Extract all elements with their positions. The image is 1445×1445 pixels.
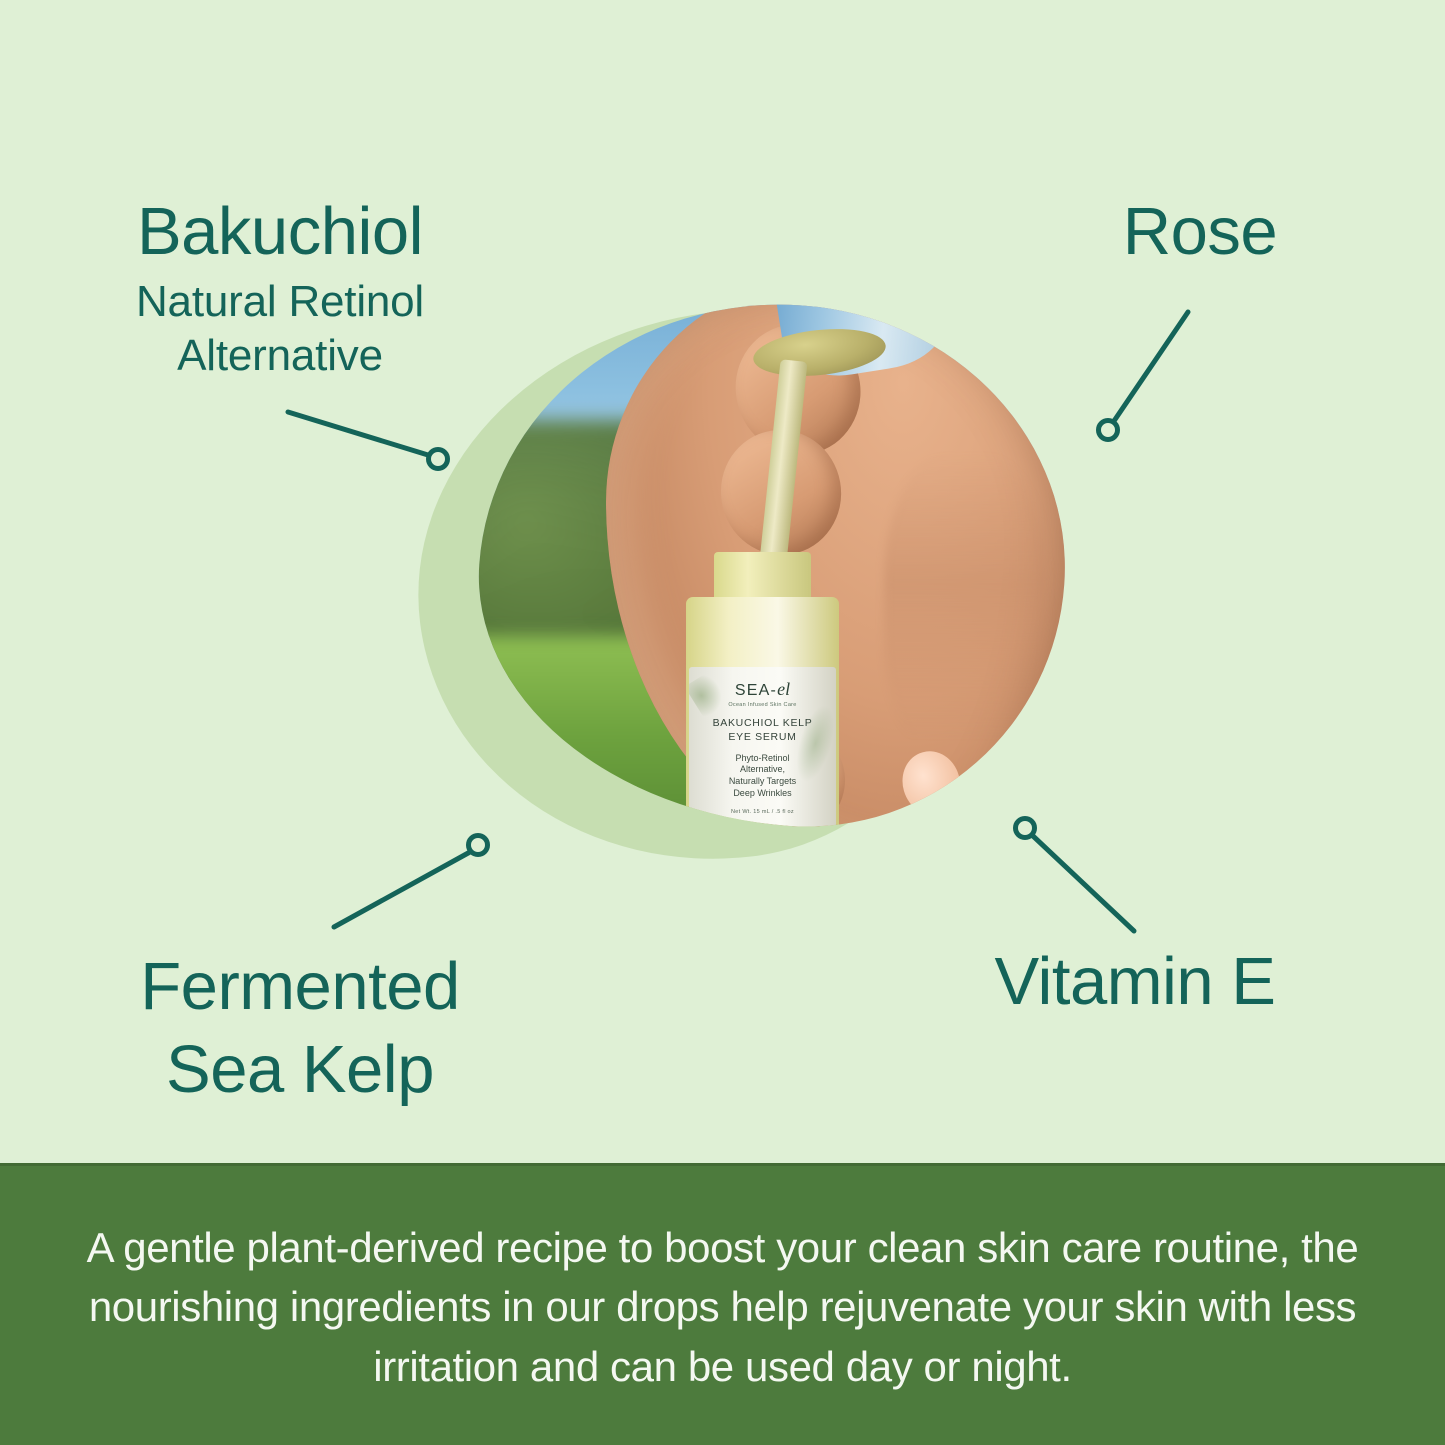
connector-line-bakuchiol <box>288 412 428 455</box>
callout-bakuchiol: Bakuchiol Natural Retinol Alternative <box>0 198 560 382</box>
callout-fermented-sea-kelp: Fermented Sea Kelp <box>20 945 580 1111</box>
bottle-label: SEA-el Ocean Infused Skin Care BAKUCHIOL… <box>689 667 836 844</box>
callout-bakuchiol-title: Bakuchiol <box>0 198 560 265</box>
infographic-canvas: SEA-el Ocean Infused Skin Care BAKUCHIOL… <box>0 0 1445 1445</box>
callout-kelp-title: Fermented Sea Kelp <box>20 945 580 1111</box>
hand-knuckles <box>884 454 1047 763</box>
bottle-body: SEA-el Ocean Infused Skin Care BAKUCHIOL… <box>686 597 839 843</box>
banner-description-text: A gentle plant-derived recipe to boost y… <box>58 1218 1388 1397</box>
leaf-icon-left <box>689 670 734 722</box>
callout-bakuchiol-subtitle: Natural Retinol Alternative <box>0 275 560 382</box>
callout-rose: Rose <box>990 198 1410 265</box>
connector-dot-rose <box>1099 421 1118 440</box>
brand-name-script: el <box>777 679 790 699</box>
label-net-weight: Net Wt. 15 mL / .5 fl oz <box>689 809 836 815</box>
serum-bottle: SEA-el Ocean Infused Skin Care BAKUCHIOL… <box>686 552 839 844</box>
callout-rose-title: Rose <box>990 198 1410 265</box>
connector-line-rose <box>1114 312 1188 421</box>
callout-vitamin-e: Vitamin E <box>900 948 1370 1015</box>
brand-name: SEA- <box>735 682 777 699</box>
description-banner: A gentle plant-derived recipe to boost y… <box>0 1163 1445 1445</box>
callout-vitamine-title: Vitamin E <box>900 948 1370 1015</box>
